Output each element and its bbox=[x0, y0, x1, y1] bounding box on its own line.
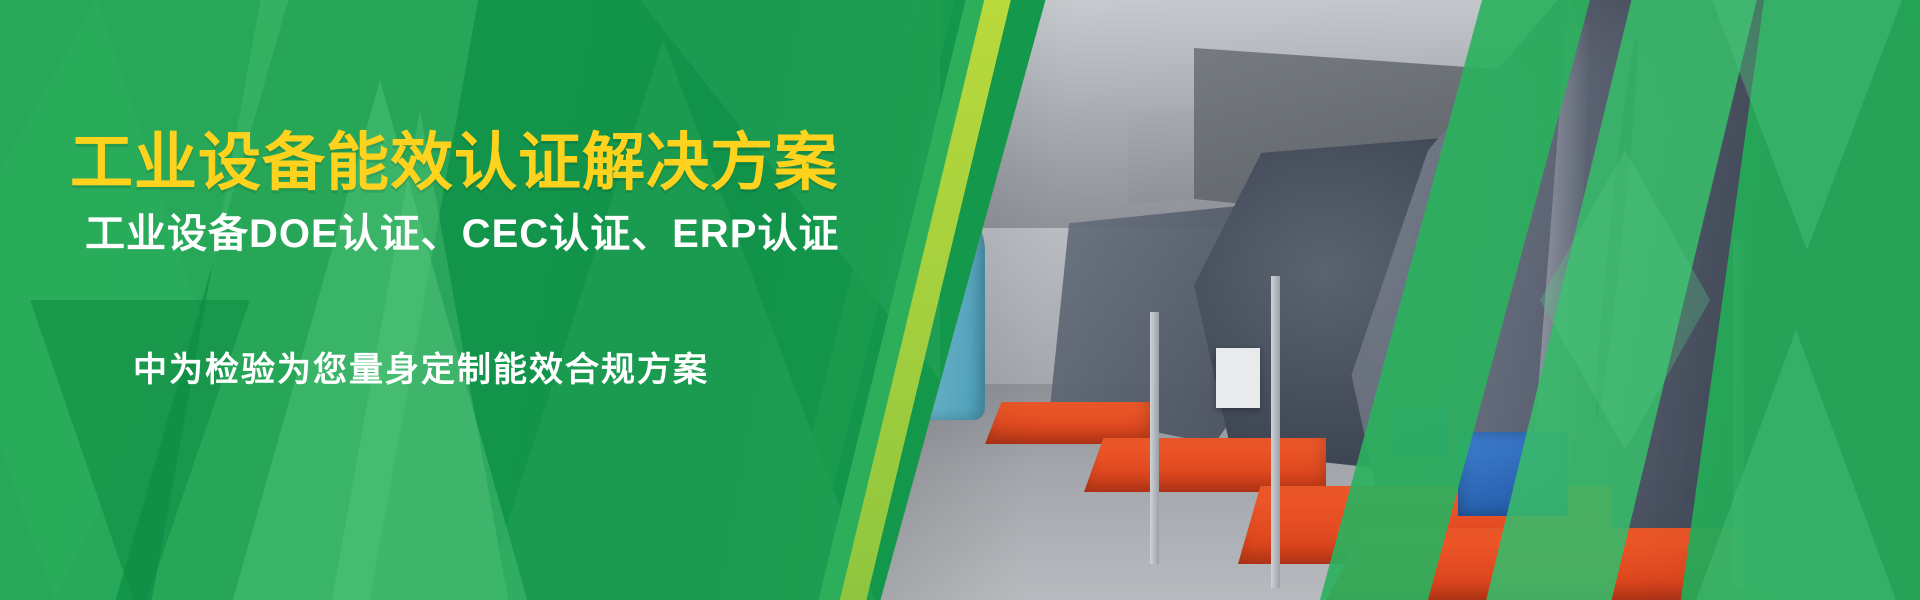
banner-copy: 工业设备能效认证解决方案 工业设备DOE认证、CEC认证、ERP认证 中为检验为… bbox=[0, 0, 860, 600]
banner-tagline: 中为检验为您量身定制能效合规方案 bbox=[133, 353, 709, 387]
banner-root: 工业设备能效认证解决方案 工业设备DOE认证、CEC认证、ERP认证 中为检验为… bbox=[0, 0, 1920, 600]
banner-subline: 工业设备DOE认证、CEC认证、ERP认证 bbox=[85, 214, 839, 254]
banner-headline: 工业设备能效认证解决方案 bbox=[70, 132, 838, 195]
